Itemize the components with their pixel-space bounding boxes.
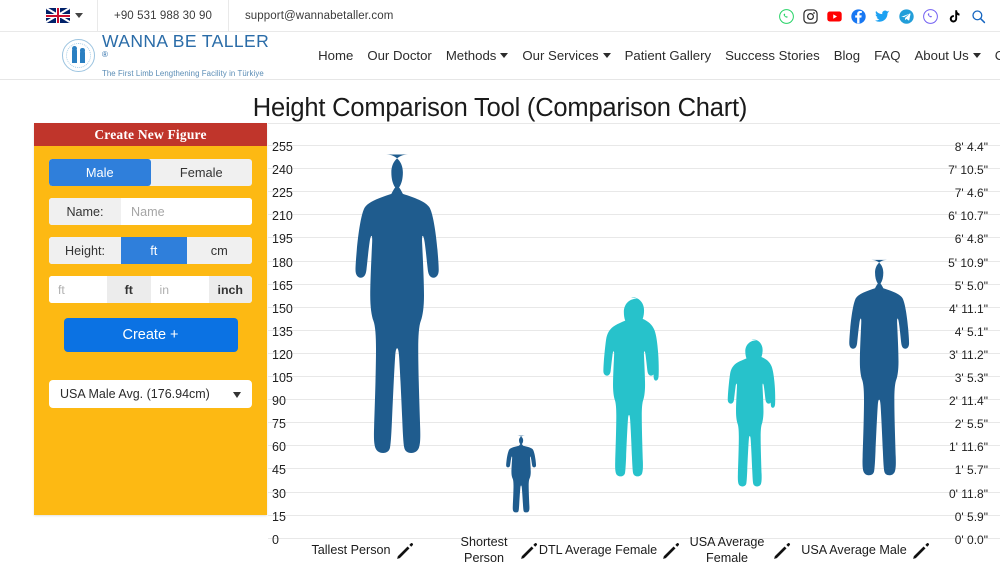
chart-gridlines: 2558' 4.4"2407' 10.5"2257' 4.6"2106' 10.… (268, 123, 1000, 539)
feet-inches-row: ft inch (49, 276, 252, 303)
panel-body: Male Female Name: Height: ft cm ft inch (34, 146, 267, 408)
chart-gridline: 752' 5.5" (268, 400, 1000, 423)
figure-label-text: DTL Average Female (539, 543, 657, 559)
inches-unit-label: inch (209, 276, 253, 303)
chevron-down-icon (75, 13, 83, 18)
name-input[interactable] (121, 198, 252, 225)
chart-gridline: 1655' 5.0" (268, 262, 1000, 285)
height-unit-row: Height: ft cm (49, 237, 252, 264)
logo-title: WANNA BE TALLER (102, 33, 269, 51)
telegram-icon[interactable] (899, 9, 914, 24)
chart-gridline: 2558' 4.4" (268, 123, 1000, 146)
nav-label: Our Doctor (367, 48, 432, 63)
site-header: WANNA BE TALLER® The First Limb Lengthen… (0, 32, 1000, 80)
whatsapp-icon[interactable] (779, 9, 794, 24)
nav-item-our-services[interactable]: Our Services (515, 48, 617, 63)
chart-gridline: 902' 11.4" (268, 377, 1000, 400)
chevron-down-icon (500, 53, 508, 58)
nav-label: Home (318, 48, 353, 63)
height-unit-ft-option[interactable]: ft (121, 237, 187, 264)
nav-label: Our Services (522, 48, 598, 63)
main-navigation: Home Our Doctor Methods Our Services Pat… (311, 48, 1000, 63)
height-label: Height: (49, 237, 121, 264)
language-selector[interactable] (0, 0, 98, 32)
comparison-chart: 2558' 4.4"2407' 10.5"2257' 4.6"2106' 10.… (268, 123, 1000, 533)
figure-label-usa-average-female[interactable]: USA Average Female (674, 535, 804, 566)
chart-gridline: 1354' 5.1" (268, 308, 1000, 331)
gender-female-option[interactable]: Female (151, 159, 253, 186)
chart-gridline: 1504' 11.1" (268, 285, 1000, 308)
nav-item-methods[interactable]: Methods (439, 48, 516, 63)
figure-label-text: USA Average Male (801, 543, 906, 559)
figure-label-dtl-average-female[interactable]: DTL Average Female (530, 541, 690, 561)
preset-figure-select[interactable]: USA Male Avg. (176.94cm) (49, 380, 252, 408)
chart-gridline: 2257' 4.6" (268, 169, 1000, 192)
search-icon[interactable] (971, 9, 986, 24)
create-button[interactable]: Create + (64, 318, 238, 352)
chevron-down-icon (233, 392, 241, 398)
inches-input[interactable] (151, 276, 209, 303)
figure-label-tallest-person[interactable]: Tallest Person (288, 541, 438, 561)
chart-gridline: 1805' 10.9" (268, 238, 1000, 261)
name-row: Name: (49, 198, 252, 225)
pencil-icon[interactable] (911, 541, 931, 561)
nav-label: About Us (914, 48, 968, 63)
figure-labels: Tallest Person Shortest Person DTL Avera… (268, 535, 1000, 572)
youtube-icon[interactable] (827, 9, 842, 24)
nav-label: FAQ (874, 48, 900, 63)
nav-item-success-stories[interactable]: Success Stories (718, 48, 827, 63)
create-figure-panel: Create New Figure Male Female Name: Heig… (34, 123, 267, 515)
viber-icon[interactable] (923, 9, 938, 24)
page-root: +90 531 988 30 90 support@wannabetaller.… (0, 0, 1000, 572)
tiktok-icon[interactable] (947, 9, 962, 24)
site-logo[interactable]: WANNA BE TALLER® The First Limb Lengthen… (0, 33, 269, 77)
nav-label: Contact (995, 48, 1000, 63)
uk-flag-icon (46, 8, 70, 23)
chart-gridline: 150' 5.9" (268, 493, 1000, 516)
chart-gridline: 1203' 11.2" (268, 331, 1000, 354)
nav-label: Success Stories (725, 48, 820, 63)
top-bar: +90 531 988 30 90 support@wannabetaller.… (0, 0, 1000, 32)
nav-label: Blog (834, 48, 860, 63)
chart-gridline: 2407' 10.5" (268, 146, 1000, 169)
nav-item-patient-gallery[interactable]: Patient Gallery (618, 48, 719, 63)
chart-gridline: 300' 11.8" (268, 469, 1000, 492)
nav-item-faq[interactable]: FAQ (867, 48, 907, 63)
instagram-icon[interactable] (803, 9, 818, 24)
height-unit-cm-option[interactable]: cm (187, 237, 253, 264)
logo-subtitle: The First Limb Lengthening Facility in T… (102, 70, 269, 78)
figure-label-text: Shortest Person (453, 535, 515, 566)
pencil-icon[interactable] (395, 541, 415, 561)
panel-title: Create New Figure (34, 123, 267, 146)
gender-toggle: Male Female (49, 159, 252, 186)
chart-gridline: 1956' 4.8" (268, 215, 1000, 238)
feet-unit-label: ft (107, 276, 151, 303)
nav-item-our-doctor[interactable]: Our Doctor (360, 48, 439, 63)
figure-label-text: USA Average Female (686, 535, 768, 566)
gender-male-option[interactable]: Male (49, 159, 151, 186)
social-links (779, 0, 986, 32)
nav-item-home[interactable]: Home (311, 48, 360, 63)
logo-text: WANNA BE TALLER® The First Limb Lengthen… (102, 33, 269, 77)
chart-gridline: 451' 5.7" (268, 446, 1000, 469)
twitter-icon[interactable] (875, 9, 890, 24)
chart-gridline: 1053' 5.3" (268, 354, 1000, 377)
logo-registered-mark: ® (102, 50, 108, 59)
nav-label: Methods (446, 48, 497, 63)
email-address[interactable]: support@wannabetaller.com (229, 0, 409, 32)
chevron-down-icon (603, 53, 611, 58)
nav-item-contact[interactable]: Contact (988, 48, 1000, 63)
nav-item-about-us[interactable]: About Us (907, 48, 987, 63)
feet-input[interactable] (49, 276, 107, 303)
figure-label-text: Tallest Person (311, 543, 390, 559)
chevron-down-icon (973, 53, 981, 58)
nav-item-blog[interactable]: Blog (827, 48, 867, 63)
figure-label-usa-average-male[interactable]: USA Average Male (786, 541, 946, 561)
page-title: Height Comparison Tool (Comparison Chart… (0, 94, 1000, 123)
name-label: Name: (49, 198, 121, 225)
facebook-icon[interactable] (851, 9, 866, 24)
chart-gridline: 2106' 10.7" (268, 192, 1000, 215)
tool-area: Create New Figure Male Female Name: Heig… (0, 123, 1000, 572)
nav-label: Patient Gallery (625, 48, 712, 63)
chart-gridline: 601' 11.6" (268, 423, 1000, 446)
phone-number[interactable]: +90 531 988 30 90 (98, 0, 229, 32)
preset-selected-value: USA Male Avg. (176.94cm) (60, 387, 210, 401)
logo-emblem-icon (62, 39, 95, 72)
